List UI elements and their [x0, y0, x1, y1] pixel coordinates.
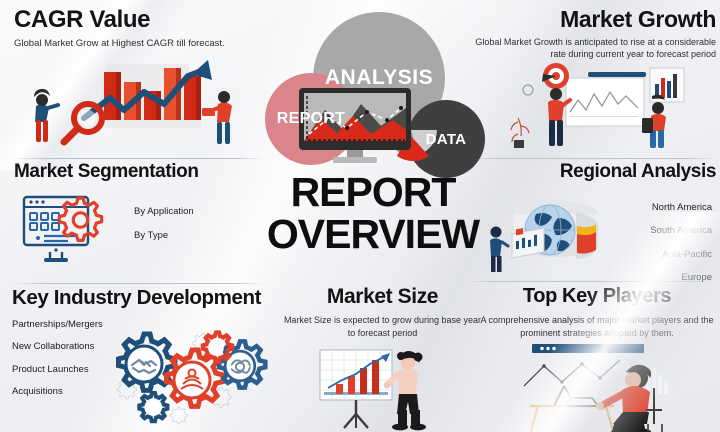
key-industry-development-heading: Key Industry Development [12, 288, 274, 309]
market-size-subtitle: Market Size is expected to grow during b… [280, 314, 485, 339]
market-segmentation-list: By Application By Type [134, 204, 194, 253]
panel-regional-analysis: Regional Analysis [470, 162, 716, 274]
list-item: North America [650, 200, 712, 215]
presentation-board-target-dartboard-people-illustration [504, 60, 714, 150]
divider-left-upper [14, 158, 264, 159]
list-item: By Type [134, 228, 194, 243]
circle-report-label: REPORT [277, 110, 345, 128]
monitor-gear-settings-icon [20, 194, 130, 266]
market-size-heading: Market Size [280, 286, 485, 307]
infographic-canvas: CAGR Value Global Market Grow at Highest… [0, 0, 720, 432]
panel-market-size: Market Size Market Size is expected to g… [280, 286, 485, 428]
person-at-desk-laptop-chart-illustration [496, 344, 701, 432]
divider-left-lower [14, 283, 264, 284]
divider-right-upper [468, 158, 716, 159]
regional-analysis-heading: Regional Analysis [470, 162, 716, 181]
interlocking-gears-handshake-icon [100, 324, 275, 429]
globe-dashboard-businessman-illustration [478, 192, 618, 274]
panel-cagr-value: CAGR Value Global Market Grow at Highest… [14, 8, 264, 148]
regional-analysis-list: North America South America Asia-Pacific… [650, 200, 712, 294]
list-item: By Application [134, 204, 194, 219]
top-key-players-subtitle: A comprehensive analysis of major market… [478, 314, 716, 340]
market-growth-heading: Market Growth [470, 8, 716, 31]
circle-analysis-label: ANALYSIS [325, 66, 433, 90]
bar-chart-growth-arrow-magnifier-people-illustration [12, 50, 262, 145]
cagr-heading: CAGR Value [14, 8, 264, 32]
panel-top-key-players: Top Key Players A comprehensive analysis… [478, 286, 716, 432]
panel-market-segmentation: Market Segmentation [14, 162, 266, 272]
flipchart-bar-chart-presenter-illustration [302, 348, 467, 430]
list-item: Europe [650, 270, 712, 285]
circle-data-label: DATA [426, 131, 467, 148]
cagr-subtitle: Global Market Grow at Highest CAGR till … [14, 38, 264, 50]
list-item: Asia-Pacific [650, 247, 712, 262]
panel-key-industry-development: Key Industry Development Partnerships/Me… [12, 288, 274, 428]
top-key-players-heading: Top Key Players [478, 286, 716, 306]
market-segmentation-heading: Market Segmentation [14, 162, 266, 181]
list-item: South America [650, 223, 712, 238]
market-growth-subtitle: Global Market Growth is anticipated to r… [470, 37, 716, 60]
panel-market-growth: Market Growth Global Market Growth is an… [470, 8, 716, 148]
